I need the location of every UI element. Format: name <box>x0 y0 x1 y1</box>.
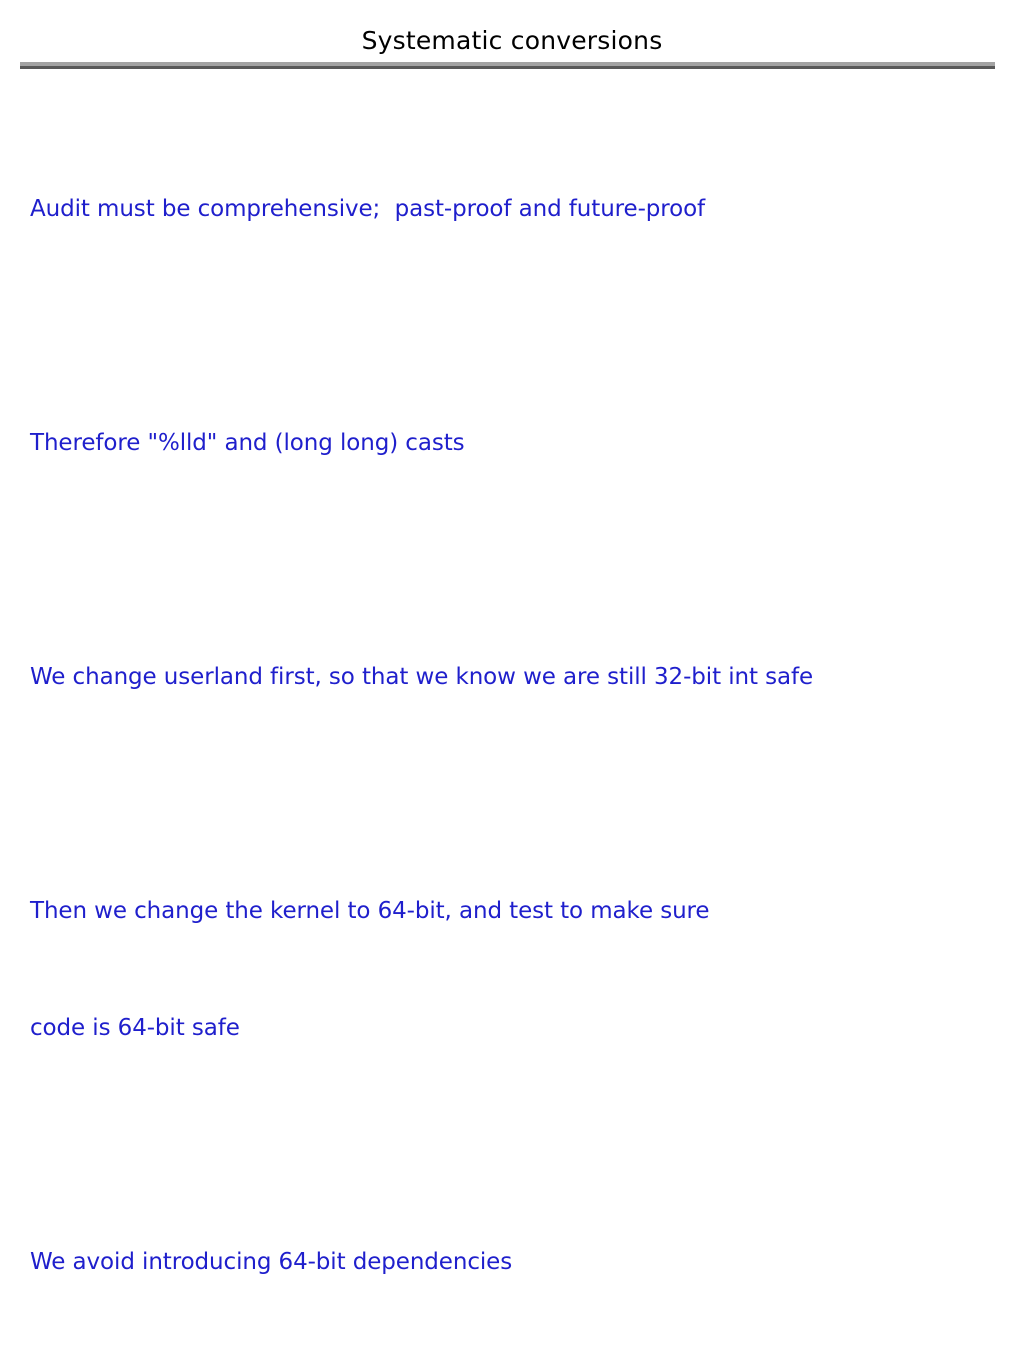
bullet-paragraph-5: We avoid introducing 64-bit dependencies <box>30 1165 1005 1360</box>
divider-dark-band <box>20 66 995 69</box>
bullet-paragraph-4: Then we change the kernel to 64-bit, and… <box>30 814 1005 1126</box>
slide-body: Audit must be comprehensive; past-proof … <box>30 112 1005 1360</box>
bullet-line: Then we change the kernel to 64-bit, and… <box>30 892 1005 931</box>
presentation-slide: Systematic conversions Audit must be com… <box>0 0 1024 768</box>
bullet-line: We change userland first, so that we kno… <box>30 658 1005 697</box>
bullet-line: code is 64-bit safe <box>30 1009 1005 1048</box>
bullet-paragraph-3: We change userland first, so that we kno… <box>30 580 1005 775</box>
bullet-paragraph-2: Therefore "%lld" and (long long) casts <box>30 346 1005 541</box>
bullet-paragraph-1: Audit must be comprehensive; past-proof … <box>30 112 1005 307</box>
bullet-line: We avoid introducing 64-bit dependencies <box>30 1243 1005 1282</box>
slide-title: Systematic conversions <box>0 26 1024 56</box>
bullet-line: Therefore "%lld" and (long long) casts <box>30 424 1005 463</box>
title-divider-rule <box>20 62 995 69</box>
bullet-line: Audit must be comprehensive; past-proof … <box>30 190 1005 229</box>
